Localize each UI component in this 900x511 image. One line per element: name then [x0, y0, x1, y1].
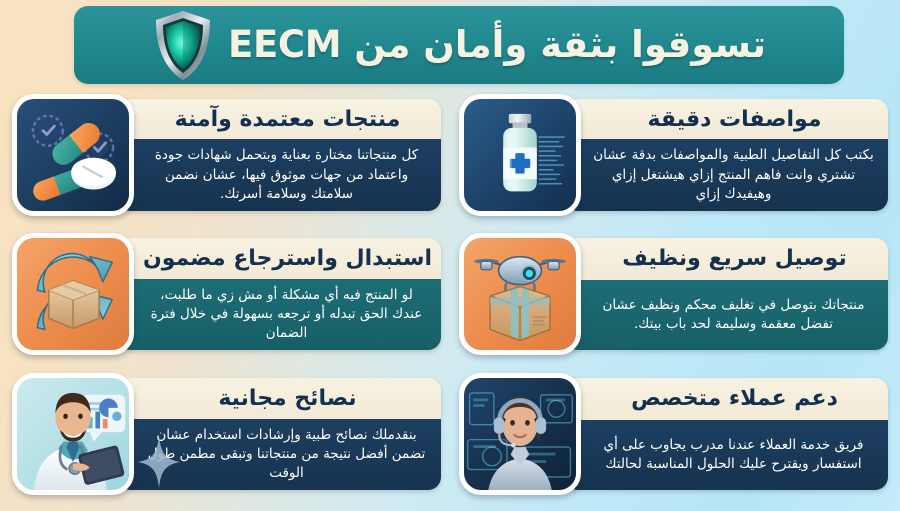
feature-panel: توصيل سريع ونظيف منتجاتك بتوصل في تغليف … [565, 238, 888, 350]
feature-panel: مواصفات دقيقة بكتب كل التفاصيل الطبية وا… [565, 99, 888, 211]
feature-panel: منتجات معتمدة وآمنة كل منتجاتنا مختارة ب… [118, 99, 441, 211]
feature-body: لو المنتج فيه أي مشكلة أو مش زي ما طلبت،… [118, 279, 441, 350]
feature-body: منتجاتك بتوصل في تغليف محكم ونظيف عشان ت… [565, 280, 888, 350]
feature-title: دعم عملاء متخصص [565, 378, 888, 420]
feature-title: منتجات معتمدة وآمنة [118, 99, 441, 140]
shield-icon [152, 9, 214, 83]
feature-title: نصائح مجانية [118, 378, 441, 419]
feature-card-free-advice[interactable]: نصائح مجانية بنقدملك نصائح طبية وإرشادات… [12, 367, 441, 501]
feature-card-support[interactable]: دعم عملاء متخصص فريق خدمة العملاء عندنا … [459, 367, 888, 501]
drone-delivery-icon [459, 233, 581, 355]
feature-card-certified[interactable]: منتجات معتمدة وآمنة كل منتجاتنا مختارة ب… [12, 88, 441, 222]
feature-body: بنقدملك نصائح طبية وإرشادات استخدام عشان… [118, 419, 441, 490]
feature-card-specs[interactable]: مواصفات دقيقة بكتب كل التفاصيل الطبية وا… [459, 88, 888, 222]
feature-title: توصيل سريع ونظيف [565, 238, 888, 280]
header-banner: تسوقوا بثقة وأمان من EECM [74, 6, 844, 84]
feature-panel: دعم عملاء متخصص فريق خدمة العملاء عندنا … [565, 378, 888, 490]
support-agent-icon [459, 373, 581, 495]
feature-body: كل منتجاتنا مختارة بعناية وبتحمل شهادات … [118, 139, 441, 210]
feature-body: بكتب كل التفاصيل الطبية والمواصفات بدقة … [565, 139, 888, 210]
feature-title: استبدال واسترجاع مضمون [118, 238, 441, 279]
doctor-advice-icon [12, 373, 134, 495]
feature-card-return[interactable]: استبدال واسترجاع مضمون لو المنتج فيه أي … [12, 228, 441, 362]
feature-panel: نصائح مجانية بنقدملك نصائح طبية وإرشادات… [118, 378, 441, 490]
feature-body: فريق خدمة العملاء عندنا مدرب يجاوب على أ… [565, 420, 888, 490]
return-exchange-icon [12, 233, 134, 355]
feature-card-delivery[interactable]: توصيل سريع ونظيف منتجاتك بتوصل في تغليف … [459, 228, 888, 362]
feature-title: مواصفات دقيقة [565, 99, 888, 140]
page-title: تسوقوا بثقة وأمان من EECM [228, 26, 766, 65]
feature-card-grid: مواصفات دقيقة بكتب كل التفاصيل الطبية وا… [0, 88, 900, 511]
certified-pills-icon [12, 94, 134, 216]
feature-panel: استبدال واسترجاع مضمون لو المنتج فيه أي … [118, 238, 441, 350]
medical-vial-icon [459, 94, 581, 216]
